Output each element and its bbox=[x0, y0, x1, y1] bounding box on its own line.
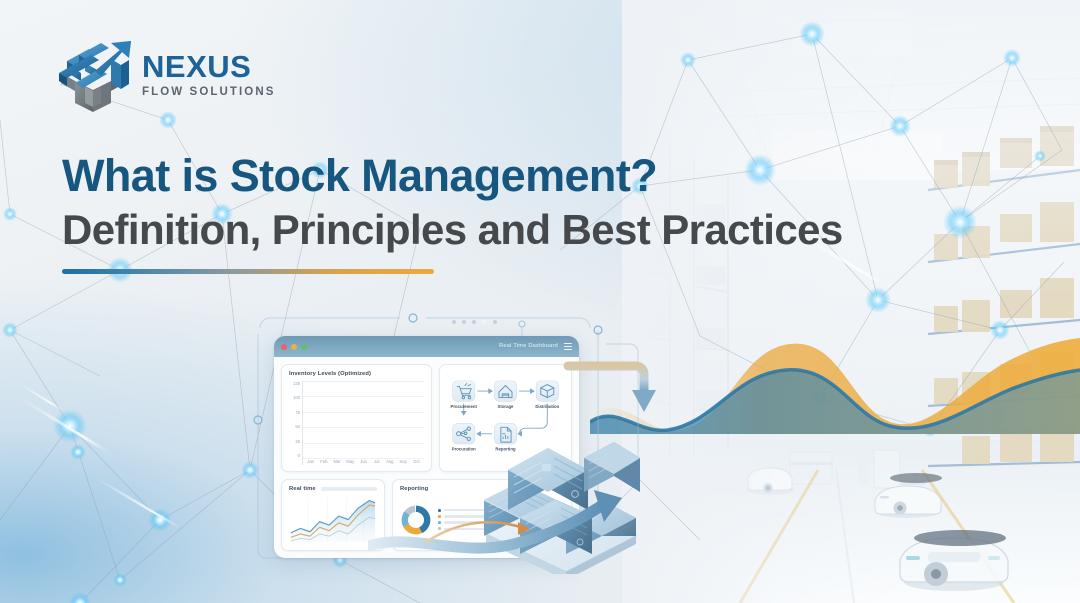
hamburger-menu-icon[interactable] bbox=[564, 343, 572, 350]
chart-x-tick: Jun bbox=[359, 459, 368, 464]
headline-primary: What is Stock Management? bbox=[62, 152, 962, 199]
chart-y-tick: 125 bbox=[293, 381, 300, 386]
hero-headline-group: What is Stock Management? Definition, Pr… bbox=[62, 152, 962, 274]
chart-y-axis: 1251007550250 bbox=[289, 381, 302, 465]
chart-x-tick: Jan bbox=[306, 459, 315, 464]
brand-logo[interactable]: NEXUS FLOW SOLUTIONS bbox=[55, 33, 276, 113]
chart-y-tick: 25 bbox=[295, 439, 300, 444]
dashboard-mockup: Real Time Dashboard Inventory Levels (Op… bbox=[258, 308, 648, 578]
hero-banner: NEXUS FLOW SOLUTIONS What is Stock Manag… bbox=[0, 0, 1080, 603]
brand-tagline: FLOW SOLUTIONS bbox=[142, 87, 276, 99]
chart-y-tick: 50 bbox=[295, 424, 300, 429]
headline-underline-rule bbox=[62, 269, 434, 274]
headline-secondary: Definition, Principles and Best Practice… bbox=[62, 207, 962, 253]
chart-y-tick: 75 bbox=[295, 410, 300, 415]
window-minimize-dot[interactable] bbox=[291, 344, 297, 350]
chart-y-tick: 100 bbox=[293, 395, 300, 400]
window-title: Real Time Dashboard bbox=[499, 343, 558, 349]
brand-name: NEXUS bbox=[142, 51, 276, 82]
chart-x-tick: May bbox=[346, 459, 355, 464]
real-time-line-chart bbox=[289, 495, 377, 544]
window-maximize-dot[interactable] bbox=[301, 344, 307, 350]
real-time-card-title: Real time bbox=[289, 486, 316, 492]
chart-x-tick: Feb bbox=[320, 459, 329, 464]
chart-x-tick: Mar bbox=[333, 459, 342, 464]
flow-arrows bbox=[368, 352, 658, 580]
window-close-dot[interactable] bbox=[281, 344, 287, 350]
isometric-cube-growth-arrow-logo-icon bbox=[55, 33, 133, 113]
wave-overlay bbox=[590, 330, 1080, 520]
chart-y-tick: 0 bbox=[298, 453, 300, 458]
